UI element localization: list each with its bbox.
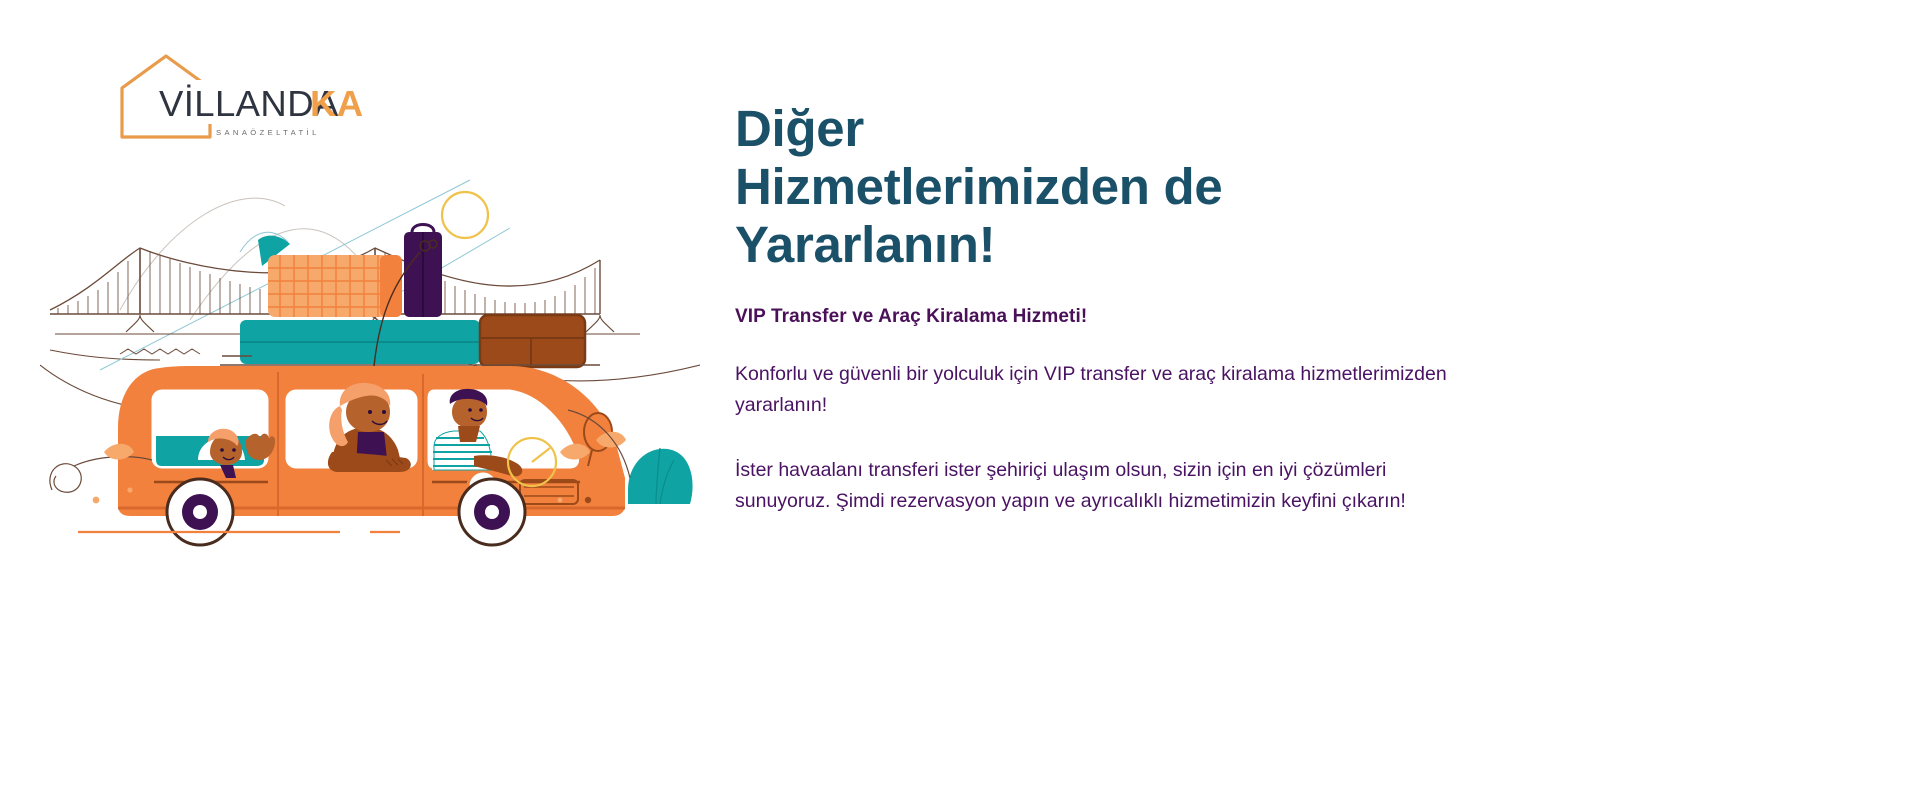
- brand-logo[interactable]: VİLLANDA KAL SANAÖZELTATİL: [104, 42, 364, 146]
- brown-suitcase: [480, 315, 585, 367]
- sun-circle-icon: [442, 192, 488, 238]
- hero-paragraph-2: İster havaalanı transferi ister şehiriçi…: [735, 455, 1455, 517]
- hero-paragraph-1: Konforlu ve güvenli bir yolculuk için VI…: [735, 359, 1455, 421]
- text-column: Diğer Hizmetlerimizden de Yararlanın! VI…: [900, 0, 1920, 800]
- swirl-decoration: [50, 464, 81, 493]
- hero-subtitle: VIP Transfer ve Araç Kiralama Hizmeti!: [735, 305, 1455, 329]
- travel-van-illustration: [40, 160, 700, 560]
- orange-plaid-suitcase: [268, 255, 402, 317]
- landing-hero-page: VİLLANDA KAL SANAÖZELTATİL: [0, 0, 1920, 800]
- page-title: Diğer Hizmetlerimizden de Yararlanın!: [735, 100, 1455, 274]
- brand-tagline: SANAÖZELTATİL: [216, 128, 320, 137]
- brand-name-accent: KAL: [310, 83, 364, 124]
- purple-bag: [404, 225, 442, 318]
- hero-text-block: Diğer Hizmetlerimizden de Yararlanın! VI…: [735, 100, 1455, 517]
